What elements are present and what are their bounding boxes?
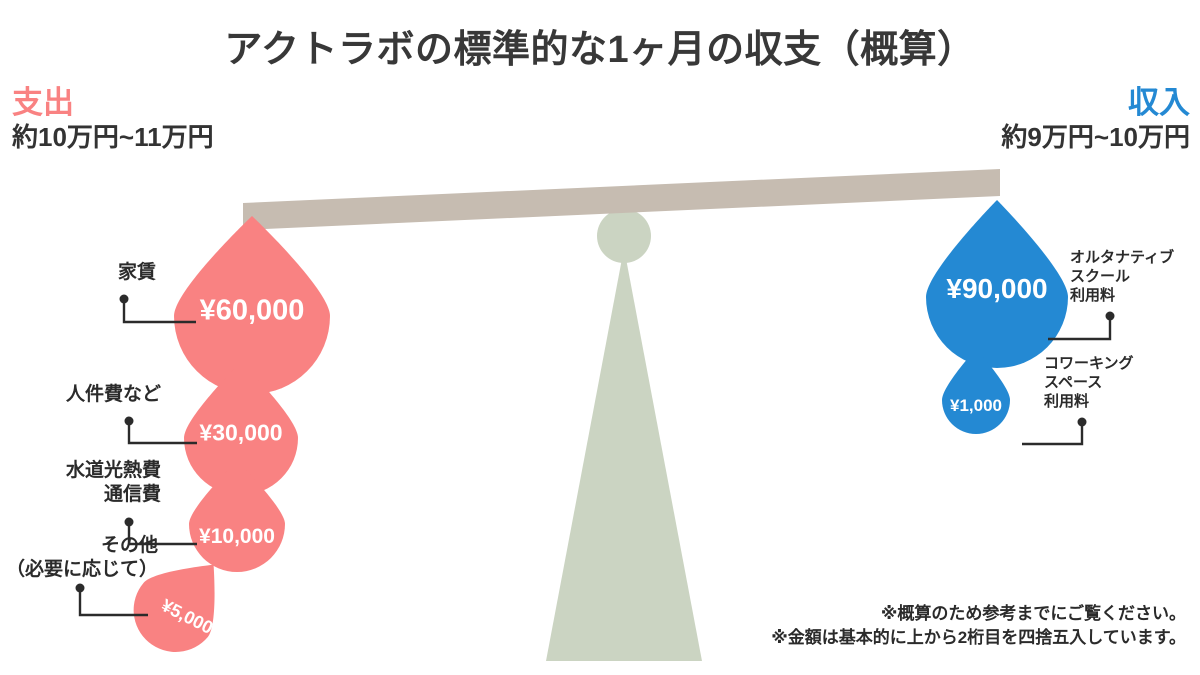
infographic-canvas: アクトラボの標準的な1ヶ月の収支（概算） 支出 約10万円~11万円 収入 約9… [0, 0, 1200, 675]
leader-line-rent [124, 299, 196, 322]
callout-label-coworking-line2: スペース [1044, 374, 1134, 393]
callout-label-utilities: 水道光熱費 通信費 [0, 459, 161, 507]
callout-label-utilities-line2: 通信費 [0, 483, 161, 507]
leader-line-coworking [1022, 422, 1082, 444]
leader-dot-rent [120, 295, 129, 304]
footnote: ※概算のため参考までにご覧ください。 ※金額は基本的に上から2桁目を四捨五入して… [771, 602, 1186, 651]
callout-label-school-line1: オルタナティブ [1070, 249, 1174, 268]
leader-dot-other [76, 584, 85, 593]
callout-label-other-line1: その他 [0, 534, 158, 558]
leader-line-school [1048, 316, 1110, 339]
leader-dot-labor [125, 417, 134, 426]
callout-label-rent-line1: 家賃 [0, 261, 156, 285]
callout-label-school: オルタナティブ スクール 利用料 [1070, 249, 1174, 305]
leader-line-labor [129, 421, 197, 443]
callout-label-coworking: コワーキング スペース 利用料 [1044, 355, 1134, 411]
callout-label-labor-line1: 人件費など [0, 383, 161, 407]
callout-label-rent: 家賃 [0, 261, 156, 285]
callout-label-other-line2: （必要に応じて） [0, 558, 158, 582]
leader-line-other [80, 588, 148, 615]
callout-label-utilities-line1: 水道光熱費 [0, 459, 161, 483]
leader-dot-school [1106, 312, 1115, 321]
callout-label-coworking-line3: 利用料 [1044, 393, 1134, 412]
callout-leader-lines [0, 0, 1200, 675]
footnote-line-2: ※金額は基本的に上から2桁目を四捨五入しています。 [771, 626, 1186, 651]
leader-dot-utilities [125, 518, 134, 527]
leader-dot-coworking [1078, 418, 1087, 427]
callout-label-labor: 人件費など [0, 383, 161, 407]
callout-label-other: その他 （必要に応じて） [0, 534, 158, 582]
footnote-line-1: ※概算のため参考までにご覧ください。 [771, 602, 1186, 627]
callout-label-school-line3: 利用料 [1070, 287, 1174, 306]
callout-label-school-line2: スクール [1070, 268, 1174, 287]
callout-label-coworking-line1: コワーキング [1044, 355, 1134, 374]
